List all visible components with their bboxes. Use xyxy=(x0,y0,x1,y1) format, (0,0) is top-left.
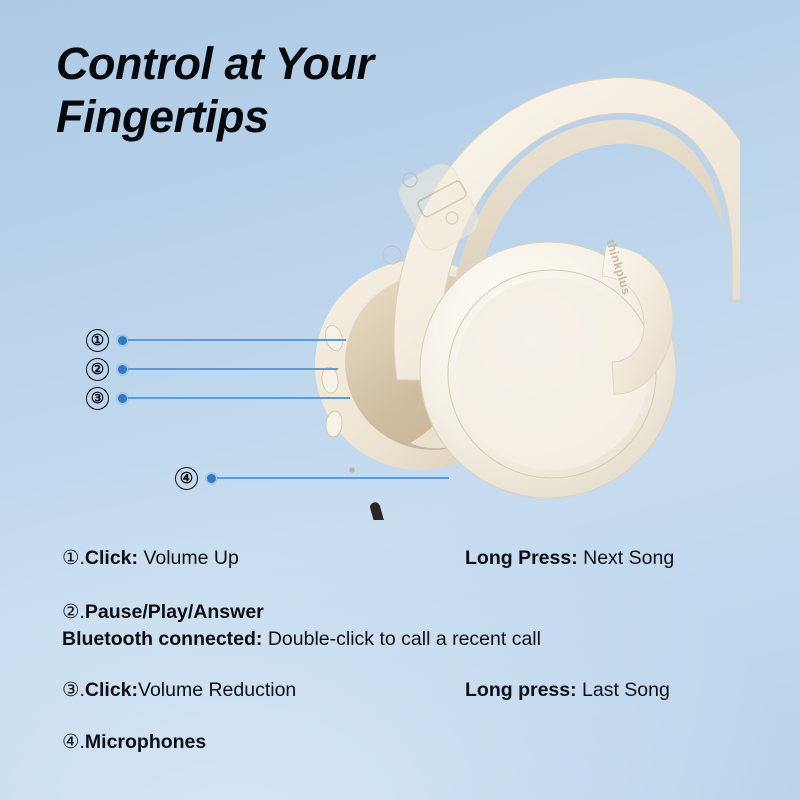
spec-row-1-marker: ①. xyxy=(62,547,85,569)
spec-row-2-sub-lead: Bluetooth connected: xyxy=(62,628,262,650)
callout-3-dot xyxy=(118,394,127,403)
callout-3: ③ xyxy=(86,385,350,411)
spec-row-2-sub: Bluetooth connected: Double-click to cal… xyxy=(62,627,782,653)
callout-4-number: ④ xyxy=(175,467,198,490)
spec-row-2-sub-value: Double-click to call a recent call xyxy=(268,628,541,650)
spec-row-1-right: Long Press: Next Song xyxy=(465,546,674,572)
callout-4: ④ xyxy=(175,465,449,491)
spec-row-1-value: Volume Up xyxy=(143,547,238,569)
callout-1: ① xyxy=(86,327,346,353)
spec-row-3-right-lead: Long press: xyxy=(465,679,577,701)
spec-row-3-lead: Click: xyxy=(85,679,138,701)
spec-row-3: ③.Click:Volume Reduction Long press: Las… xyxy=(62,678,782,704)
spec-row-3-value: Volume Reduction xyxy=(138,679,296,701)
callout-1-line xyxy=(128,339,346,341)
spec-row-2-marker: ②. xyxy=(62,601,85,623)
callout-4-line xyxy=(217,477,449,479)
spec-row-4-marker: ④. xyxy=(62,731,85,753)
callout-4-dot xyxy=(207,474,216,483)
spec-row-1-right-lead: Long Press: xyxy=(465,547,578,569)
spec-row-1-right-value: Next Song xyxy=(583,547,674,569)
callout-2: ② xyxy=(86,356,338,382)
callout-2-number: ② xyxy=(86,358,109,381)
spec-row-2-lead: Pause/Play/Answer xyxy=(85,601,264,623)
callout-1-dot xyxy=(118,336,127,345)
spec-row-4-lead: Microphones xyxy=(85,731,206,753)
callout-1-number: ① xyxy=(86,329,109,352)
headphones-image xyxy=(300,50,740,520)
spec-row-1-lead: Click: xyxy=(85,547,138,569)
callout-3-number: ③ xyxy=(86,387,109,410)
right-earcup-group xyxy=(420,242,676,498)
callout-3-line xyxy=(128,397,350,399)
callout-2-line xyxy=(128,368,338,370)
spec-row-3-right-value: Last Song xyxy=(582,679,670,701)
spec-row-1: ①.Click: Volume Up Long Press: Next Song xyxy=(62,546,782,572)
spec-row-4: ④.Microphones xyxy=(62,730,782,756)
callout-2-dot xyxy=(118,365,127,374)
spec-row-3-marker: ③. xyxy=(62,679,85,701)
product-infographic: Control at Your Fingertips xyxy=(0,0,800,800)
usb-c-port xyxy=(369,501,385,520)
spec-row-2: ②.Pause/Play/Answer Bluetooth connected:… xyxy=(62,600,782,652)
spec-row-3-right: Long press: Last Song xyxy=(465,678,670,704)
